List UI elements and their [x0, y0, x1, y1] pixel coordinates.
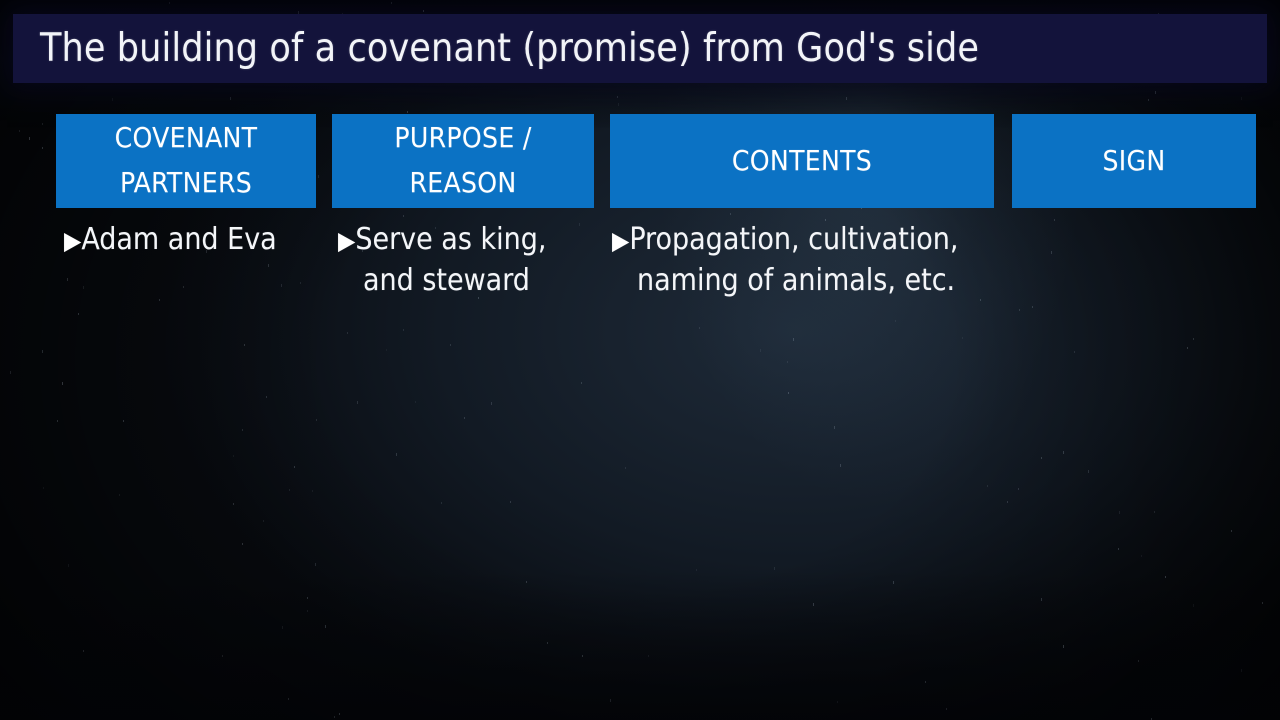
triangle-bullet-icon: ▶: [338, 226, 355, 255]
bullet-item: ▶Adam and Eva: [64, 219, 326, 260]
slide-title-bar: The building of a covenant (promise) fro…: [13, 14, 1267, 83]
column-header-label: SIGN: [1095, 139, 1174, 184]
slide-title: The building of a covenant (promise) fro…: [13, 29, 979, 68]
column-header-label: PURPOSE / REASON: [332, 116, 594, 206]
triangle-bullet-icon: ▶: [612, 226, 629, 255]
column-header-label: COVENANT PARTNERS: [93, 116, 279, 206]
column-header-sign[interactable]: SIGN: [1012, 114, 1256, 208]
column-body-purpose-reason: ▶Serve as king, and steward: [338, 219, 604, 302]
bullet-item: ▶Propagation, cultivation, naming of ani…: [612, 219, 1012, 302]
column-body-contents: ▶Propagation, cultivation, naming of ani…: [612, 219, 1012, 302]
bullet-item-text: Propagation, cultivation, naming of anim…: [629, 222, 958, 298]
column-header-covenant-partners[interactable]: COVENANT PARTNERS: [56, 114, 316, 208]
column-header-contents[interactable]: CONTENTS: [610, 114, 994, 208]
triangle-bullet-icon: ▶: [64, 226, 81, 255]
slide-canvas: The building of a covenant (promise) fro…: [0, 0, 1280, 720]
bullet-item-text: Adam and Eva: [81, 222, 276, 257]
column-header-purpose-reason[interactable]: PURPOSE / REASON: [332, 114, 594, 208]
background-speckles: [0, 0, 1280, 720]
bullet-item-text: Serve as king, and steward: [355, 222, 546, 298]
column-header-label: CONTENTS: [724, 139, 880, 184]
column-body-covenant-partners: ▶Adam and Eva: [64, 219, 326, 260]
column-headers-row: COVENANT PARTNERS PURPOSE / REASON CONTE…: [0, 114, 1280, 208]
bullet-item: ▶Serve as king, and steward: [338, 219, 604, 302]
